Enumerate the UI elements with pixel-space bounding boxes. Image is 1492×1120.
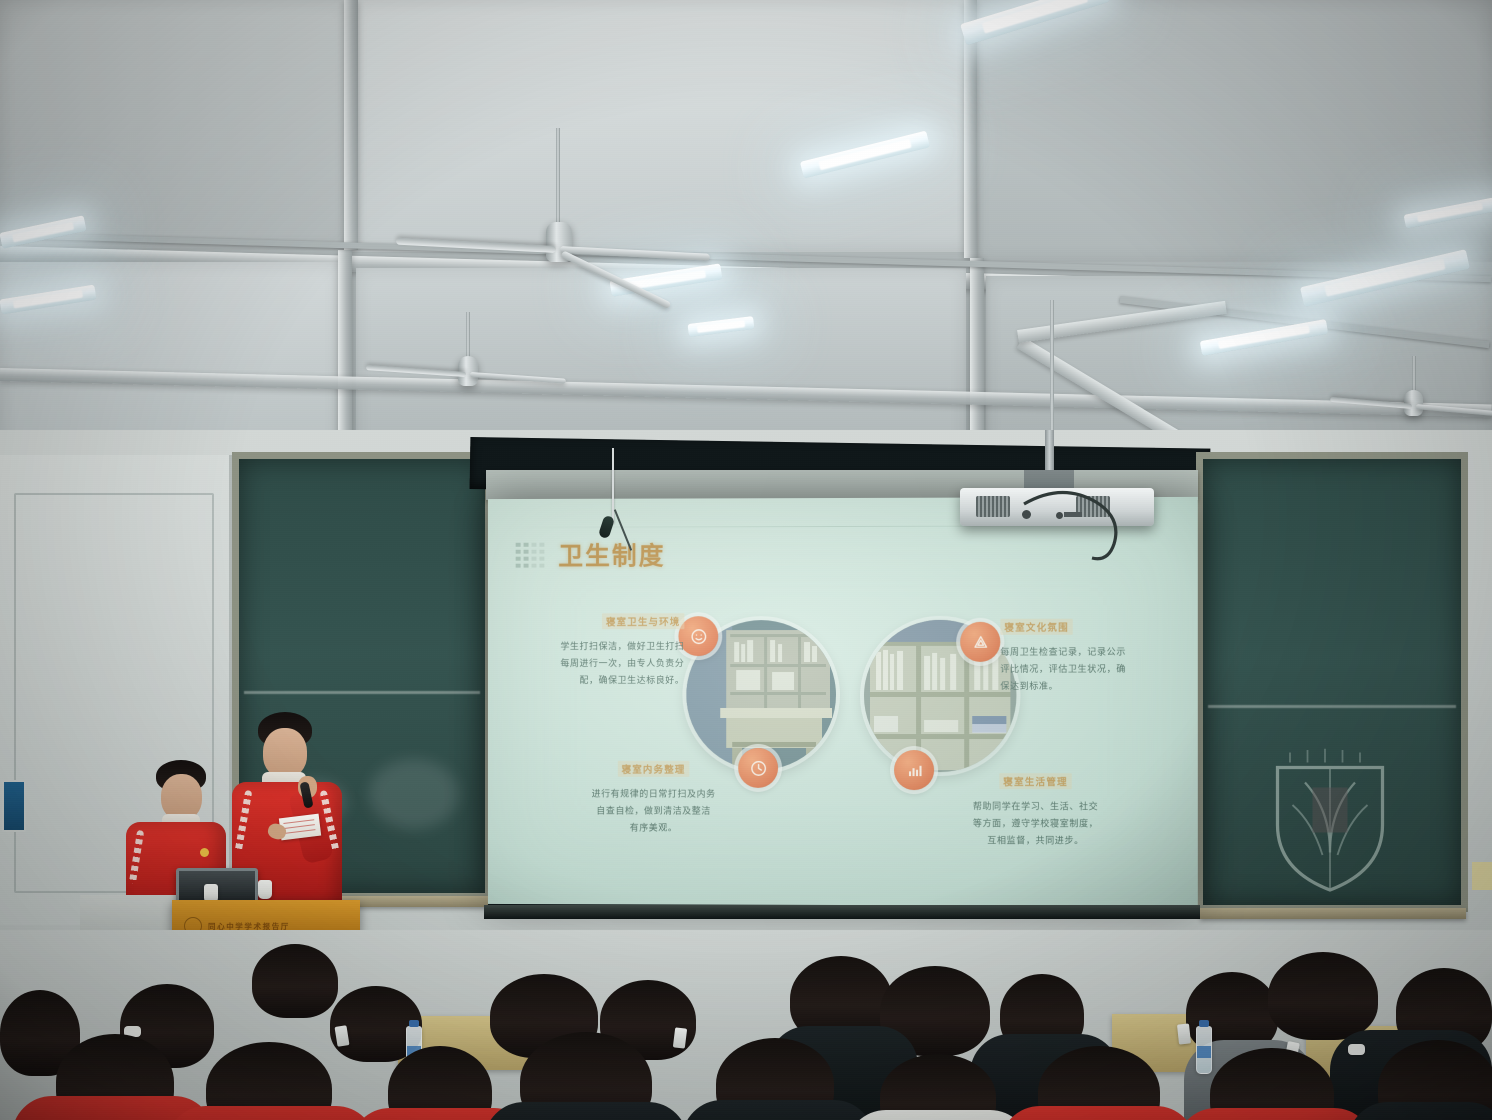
school-crest-chalk-drawing [1265,745,1395,895]
audience-shoulders [166,1106,376,1120]
slide-title: 卫生制度 [558,536,665,572]
smartphone[interactable] [673,1027,687,1048]
smartphone[interactable] [1177,1023,1191,1044]
audience-shoulders [1000,1106,1196,1120]
slide-block-body: 每周卫生检查记录，记录公示 评比情况，评估卫生状况，确 保达到标准。 [1000,644,1187,696]
audience-shoulders [484,1102,688,1120]
audience-shoulders [1176,1108,1374,1120]
slide-block-body: 帮助同学在学习、生活、社交 等方面，遵守学校寝室制度， 互相监督，共同进步。 [942,798,1129,850]
projector-cable [1018,486,1168,566]
bottle-cap [1199,1020,1209,1027]
bottle-cap [409,1020,419,1027]
wall-sticker [1472,862,1492,890]
hanging-mic-wire [612,448,614,524]
slide-block-heading: 寝室卫生与环境 [602,613,684,629]
dot-grid-icon [516,542,545,567]
blackboard-right [1196,452,1468,912]
slide-block-bottom-left: 寝室内务整理 进行有规律的日常打扫及内务 自查自检，做到清洁及整洁 有序美观。 [561,760,746,837]
water-bottle [1196,1026,1212,1074]
audience [0,930,1492,1120]
audience-head [1268,952,1378,1040]
slide-block-heading: 寝室生活管理 [999,773,1072,789]
slide-block-top-left: 寝室卫生与环境 学生打扫保洁，做好卫生打扫 每周进行一次，由专人负责分 配，确保… [500,612,685,689]
audience-shoulders [846,1110,1030,1120]
chalk-tray [1200,908,1466,919]
slide-block-top-right: 寝室文化氛围 每周卫生检查记录，记录公示 评比情况，评估卫生状况，确 保达到标准… [1000,618,1187,696]
screen-bottom-rail [484,905,1200,919]
wall-control-panel[interactable] [2,780,26,832]
audience-head [252,944,338,1018]
audience-shoulders [682,1100,874,1120]
slide-block-heading: 寝室内务整理 [618,761,690,777]
ceiling [0,0,1492,470]
slide-block-body: 进行有规律的日常打扫及内务 自查自检，做到清洁及整洁 有序美观。 [561,786,746,837]
slide-block-bottom-right: 寝室生活管理 帮助同学在学习、生活、社交 等方面，遵守学校寝室制度， 互相监督，… [942,772,1129,850]
classroom-presentation-scene: 卫生制度 [0,0,1492,1120]
slide-block-body: 学生打扫保洁，做好卫生打扫 每周进行一次，由专人负责分 配，确保卫生达标良好。 [500,638,685,689]
face-mask [1348,1044,1365,1055]
slide-block-heading: 寝室文化氛围 [1000,619,1073,635]
slide-header: 卫生制度 [516,536,666,572]
bar-chart-icon [894,750,934,790]
cup [258,880,272,899]
recycle-triangle-icon [960,622,1000,662]
